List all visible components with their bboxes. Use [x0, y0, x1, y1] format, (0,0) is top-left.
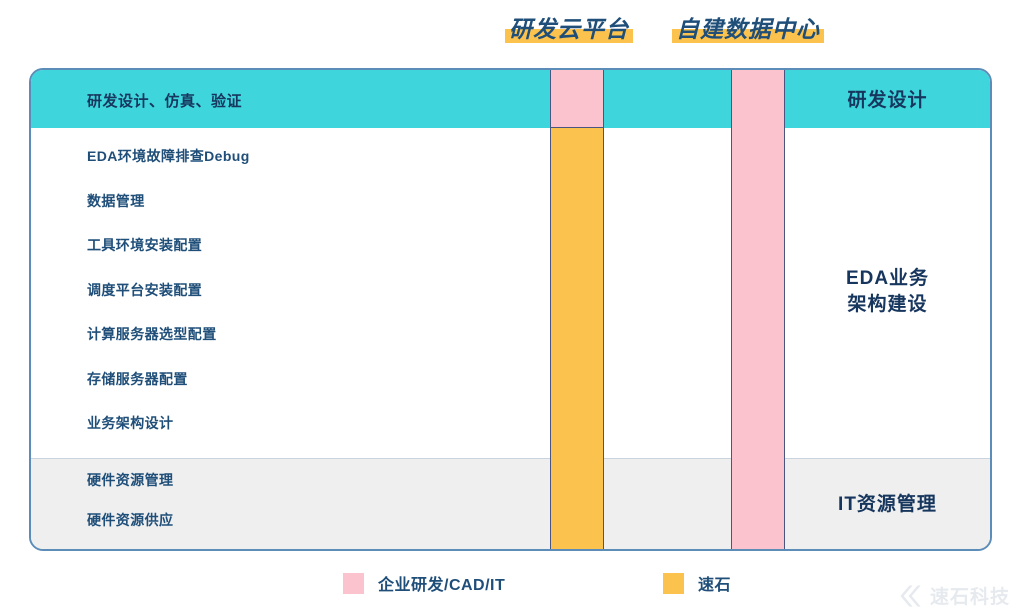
category-label-it-resource: IT资源管理	[785, 492, 990, 518]
eda-comparison-infographic: { "titles": { "cloud": "研发云平台", "datacen…	[0, 0, 1024, 615]
bar-cloud-platform	[550, 70, 604, 549]
title-cloud-platform: 研发云平台	[505, 16, 633, 45]
legend-item-fastone: 速石	[663, 571, 731, 595]
list-item: 业务架构设计	[87, 413, 250, 458]
list-item: EDA环境故障排查Debug	[87, 146, 250, 191]
list-item: 计算服务器选型配置	[87, 324, 250, 369]
category-label-eda-line1: EDA业务	[785, 266, 990, 292]
bar-segment-enterprise	[551, 70, 603, 128]
footer-task-list: 硬件资源管理 硬件资源供应	[87, 470, 173, 550]
legend: 企业研发/CAD/IT 速石	[0, 567, 1024, 601]
header-task-label: 研发设计、仿真、验证	[87, 90, 242, 111]
category-label-eda-line2: 架构建设	[785, 292, 990, 318]
comparison-card: 研发设计、仿真、验证 EDA环境故障排查Debug 数据管理 工具环境安装配置 …	[29, 68, 992, 551]
watermark-label: 速石科技	[930, 582, 1010, 609]
bar-segment-fastone	[551, 128, 603, 549]
title-self-built-datacenter: 自建数据中心	[672, 16, 824, 45]
legend-label-enterprise: 企业研发/CAD/IT	[378, 571, 505, 595]
title-self-built-datacenter-label: 自建数据中心	[676, 16, 820, 42]
list-item: 数据管理	[87, 191, 250, 236]
legend-label-fastone: 速石	[698, 571, 731, 595]
legend-swatch-yellow-icon	[663, 573, 684, 594]
category-label-eda-architecture: EDA业务 架构建设	[785, 266, 990, 318]
list-item: 硬件资源供应	[87, 510, 173, 550]
bar-self-built-datacenter	[731, 70, 785, 549]
column-titles: 研发云平台 自建数据中心	[0, 0, 1024, 60]
title-cloud-platform-label: 研发云平台	[509, 16, 629, 42]
list-item: 存储服务器配置	[87, 369, 250, 414]
legend-swatch-pink-icon	[343, 573, 364, 594]
list-item: 硬件资源管理	[87, 470, 173, 510]
company-logo-icon	[898, 583, 924, 609]
list-item: 工具环境安装配置	[87, 235, 250, 280]
list-item: 调度平台安装配置	[87, 280, 250, 325]
task-list: EDA环境故障排查Debug 数据管理 工具环境安装配置 调度平台安装配置 计算…	[87, 146, 250, 458]
category-label-design: 研发设计	[785, 88, 990, 114]
watermark: 速石科技	[898, 582, 1010, 609]
task-column: 研发设计、仿真、验证 EDA环境故障排查Debug 数据管理 工具环境安装配置 …	[31, 70, 550, 549]
legend-item-enterprise: 企业研发/CAD/IT	[343, 571, 505, 595]
category-column: 研发设计 EDA业务 架构建设 IT资源管理	[785, 70, 990, 549]
